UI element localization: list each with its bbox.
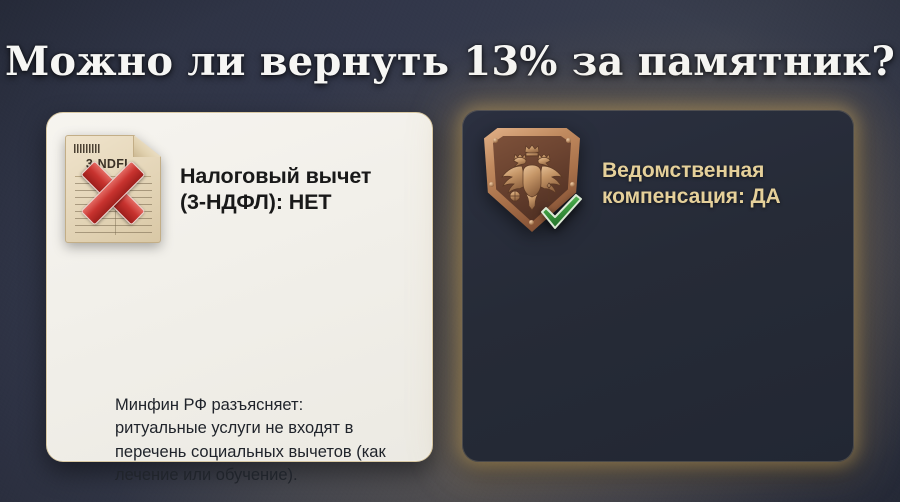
tax-deduction-card-header: 3-NDFL Налоговый вычет (3-НДФЛ): НЕТ [65,135,371,243]
shield-rivet [570,182,575,187]
shield-rivet [566,138,571,143]
tax-form-document-icon: 3-NDFL [65,135,161,243]
shield-rivet [529,220,534,225]
departmental-compensation-card: Ведомственная компенсация: ДА Полное или… [462,110,854,462]
state-emblem-shield-icon [484,128,588,240]
compensation-card-header: Ведомственная компенсация: ДА [484,128,781,240]
red-x-icon [77,157,149,229]
page-title: Можно ли вернуть 13% за памятник? [0,38,900,85]
tax-deduction-heading: Налоговый вычет (3-НДФЛ): НЕТ [180,163,371,215]
shield-rivet [489,182,494,187]
compensation-heading: Ведомственная компенсация: ДА [602,158,781,209]
barcode-icon [74,144,100,153]
tax-deduction-body-text: Минфин РФ разъясняет: ритуальные услуги … [115,394,467,488]
tax-deduction-card: 3-NDFL Налоговый вычет (3-НДФЛ): НЕТ Мин… [46,112,433,462]
green-check-icon [536,190,586,236]
